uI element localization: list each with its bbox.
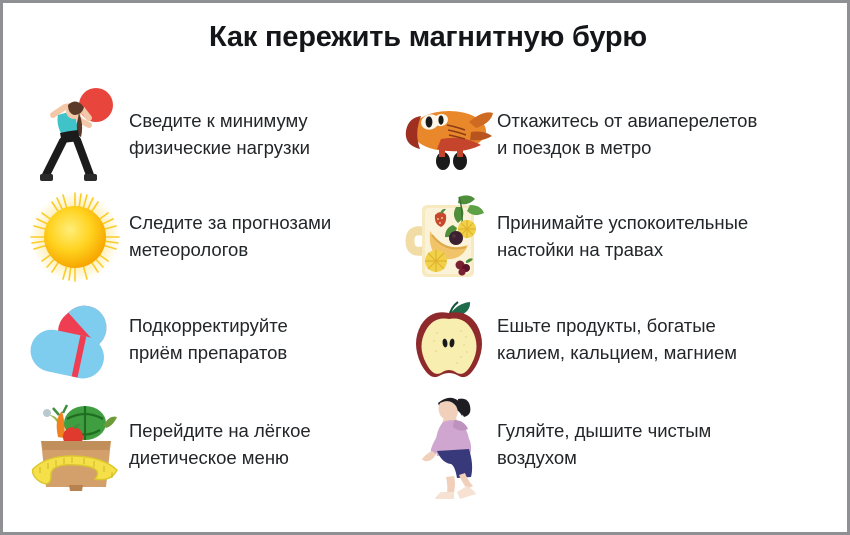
page-title: Как пережить магнитную бурю	[3, 21, 850, 54]
tip-item: Ешьте продукты, богатые калием, кальцием…	[403, 290, 823, 390]
tip-text: Сведите к минимуму физические нагрузки	[125, 108, 310, 162]
tip-item: Перейдите на лёгкое диетическое меню	[25, 395, 445, 495]
tip-item: Принимайте успокоительные настойки на тр…	[403, 187, 823, 287]
grocery-bag-with-measuring-tape-icon	[25, 393, 125, 498]
airplane-icon	[403, 83, 495, 188]
tip-text: Следите за прогнозами метеорологов	[125, 210, 331, 264]
tip-item: Подкорректируйте приём препаратов	[25, 290, 445, 390]
tip-item: Откажитесь от авиаперелетов и поездок в …	[403, 85, 823, 185]
tips-column-left: Сведите к минимуму физические нагрузки	[25, 85, 447, 525]
tip-text: Откажитесь от авиаперелетов и поездок в …	[495, 108, 757, 162]
tip-text: Перейдите на лёгкое диетическое меню	[125, 418, 311, 472]
capsules-pills-icon	[25, 288, 125, 393]
walking-person-icon	[403, 393, 495, 498]
tip-text: Принимайте успокоительные настойки на тр…	[495, 210, 748, 264]
herbal-infusion-mug-icon	[403, 185, 495, 290]
tip-item: Сведите к минимуму физические нагрузки	[25, 85, 445, 185]
tip-text: Ешьте продукты, богатые калием, кальцием…	[495, 313, 737, 367]
tips-grid: Сведите к минимуму физические нагрузки	[3, 85, 847, 525]
halved-apple-icon	[403, 288, 495, 393]
tip-item: Гуляйте, дышите чистым воздухом	[403, 395, 823, 495]
tip-item: Следите за прогнозами метеорологов	[25, 187, 445, 287]
tips-column-right: Откажитесь от авиаперелетов и поездок в …	[403, 85, 825, 525]
tip-text: Подкорректируйте приём препаратов	[125, 313, 288, 367]
woman-exercising-with-ball-icon	[25, 83, 125, 188]
sun-icon	[25, 185, 125, 290]
infographic-poster: Как пережить магнитную бурю	[0, 0, 850, 535]
tip-text: Гуляйте, дышите чистым воздухом	[495, 418, 711, 472]
